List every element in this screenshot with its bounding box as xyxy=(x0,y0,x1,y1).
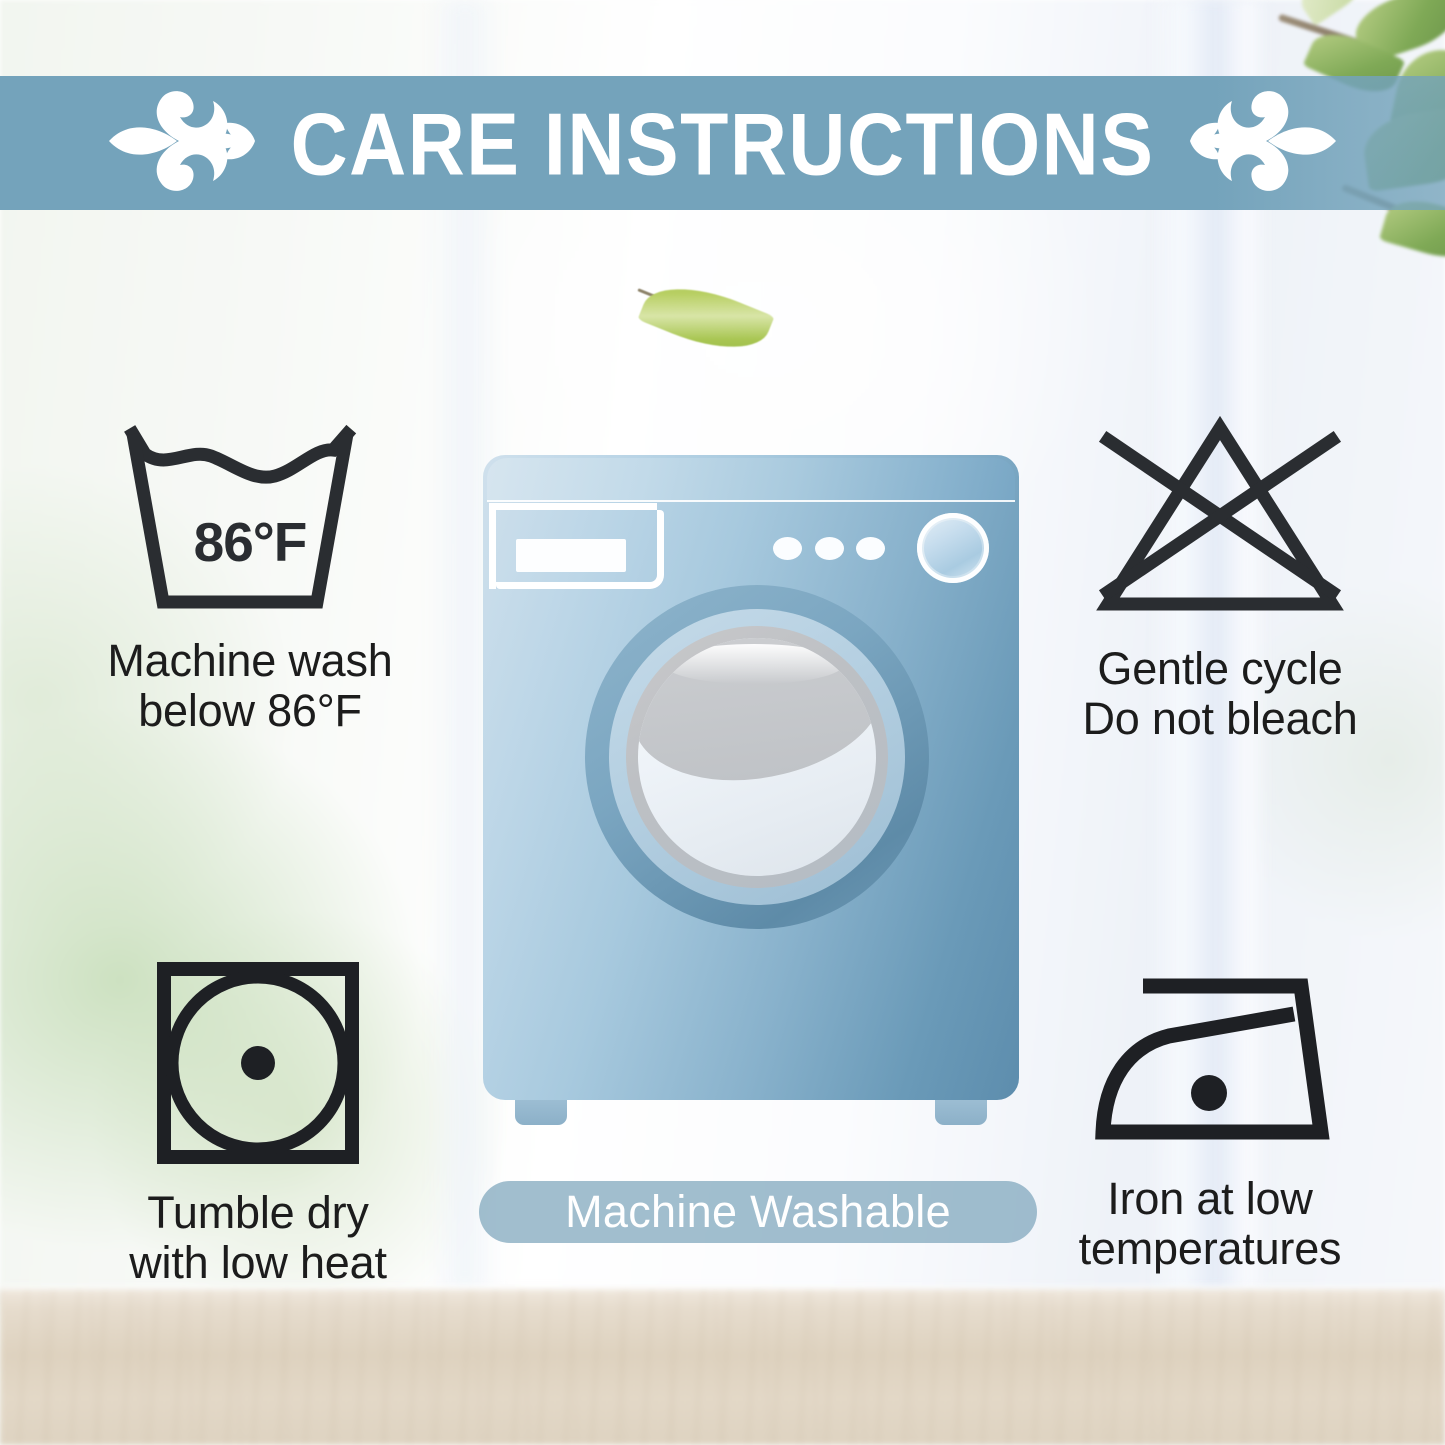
door-glass xyxy=(638,638,876,876)
care-label-machine-wash: Machine wash below 86°F xyxy=(107,636,392,737)
tumble-dry-low-icon xyxy=(155,962,361,1164)
control-indicator-dot-1 xyxy=(773,537,802,560)
door-glass-highlight xyxy=(664,644,844,684)
care-label-iron-low: Iron at low temperatures xyxy=(1079,1174,1342,1275)
floating-leaf xyxy=(643,277,771,363)
machine-washable-badge-label: Machine Washable xyxy=(565,1186,951,1238)
wash-tub-icon: 86°F xyxy=(119,424,381,616)
care-symbol-iron-low: Iron at low temperatures xyxy=(1000,962,1420,1275)
washing-machine-illustration xyxy=(483,455,1019,1115)
care-symbol-do-not-bleach: Gentle cycle Do not bleach xyxy=(1010,414,1430,745)
care-label-tumble-dry: Tumble dry with low heat xyxy=(129,1188,387,1289)
wash-temperature-label: 86°F xyxy=(119,510,381,574)
control-indicator-dot-2 xyxy=(815,537,844,560)
washing-machine-top-lid xyxy=(487,458,1015,502)
header-banner: CARE INSTRUCTIONS xyxy=(0,76,1445,210)
machine-washable-badge: Machine Washable xyxy=(479,1181,1037,1243)
control-indicator-dot-3 xyxy=(856,537,885,560)
washing-machine-body xyxy=(483,455,1019,1100)
fleur-de-lis-icon-right xyxy=(1188,87,1338,200)
crossed-triangle-icon xyxy=(1094,414,1346,616)
page-title: CARE INSTRUCTIONS xyxy=(291,99,1155,187)
control-knob xyxy=(917,513,989,583)
wooden-table-surface xyxy=(0,1290,1445,1445)
care-label-do-not-bleach: Gentle cycle Do not bleach xyxy=(1082,644,1357,745)
care-symbol-tumble-dry: Tumble dry with low heat xyxy=(48,962,468,1289)
fleur-de-lis-icon-left xyxy=(107,87,257,200)
iron-one-dot-icon xyxy=(1089,962,1331,1146)
care-symbol-machine-wash: 86°F Machine wash below 86°F xyxy=(40,424,460,737)
control-panel-display xyxy=(516,539,626,572)
leaf-blade xyxy=(637,269,774,366)
control-knob-inner xyxy=(924,520,982,576)
